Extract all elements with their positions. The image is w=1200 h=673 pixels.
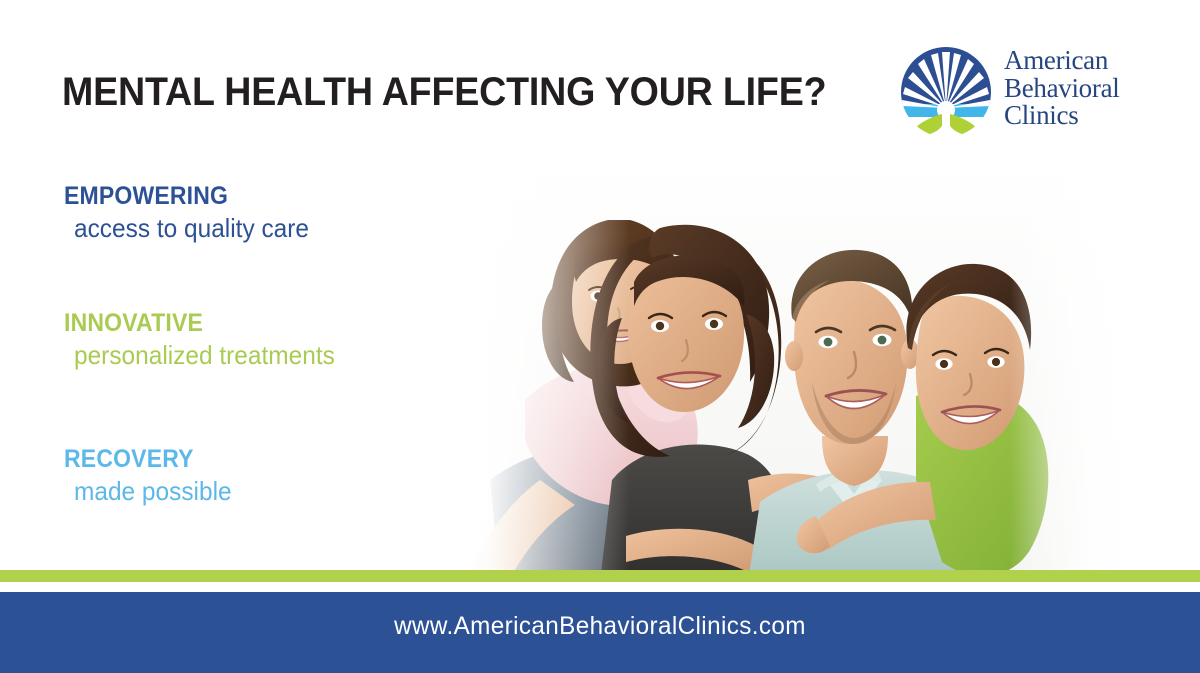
- feature-subtitle: personalized treatments: [74, 340, 335, 371]
- brand-wordmark: American Behavioral Clinics: [1004, 42, 1119, 130]
- feature-item-recovery: RECOVERY made possible: [64, 446, 242, 507]
- sunburst-circle-logo-icon: [896, 42, 996, 142]
- feature-title: RECOVERY: [64, 446, 227, 473]
- brand-logo[interactable]: American Behavioral Clinics: [896, 42, 1146, 147]
- feature-subtitle: made possible: [74, 476, 232, 507]
- brand-wordmark-line-1: American: [1004, 47, 1119, 75]
- website-url[interactable]: www.AmericanBehavioralClinics.com: [18, 612, 1182, 641]
- feature-title: INNOVATIVE: [64, 310, 328, 337]
- page-title: MENTAL HEALTH AFFECTING YOUR LIFE?: [62, 70, 826, 114]
- green-accent-stripe: [0, 570, 1200, 582]
- feature-item-innovative: INNOVATIVE personalized treatments: [64, 310, 351, 371]
- feature-title: EMPOWERING: [64, 183, 303, 210]
- family-photo: [430, 150, 1130, 582]
- feature-subtitle: access to quality care: [74, 213, 309, 244]
- brand-wordmark-line-2: Behavioral: [1004, 75, 1119, 103]
- promotional-banner: MENTAL HEALTH AFFECTING YOUR LIFE?: [0, 0, 1200, 673]
- feature-item-empowering: EMPOWERING access to quality care: [64, 183, 324, 244]
- brand-wordmark-line-3: Clinics: [1004, 102, 1119, 130]
